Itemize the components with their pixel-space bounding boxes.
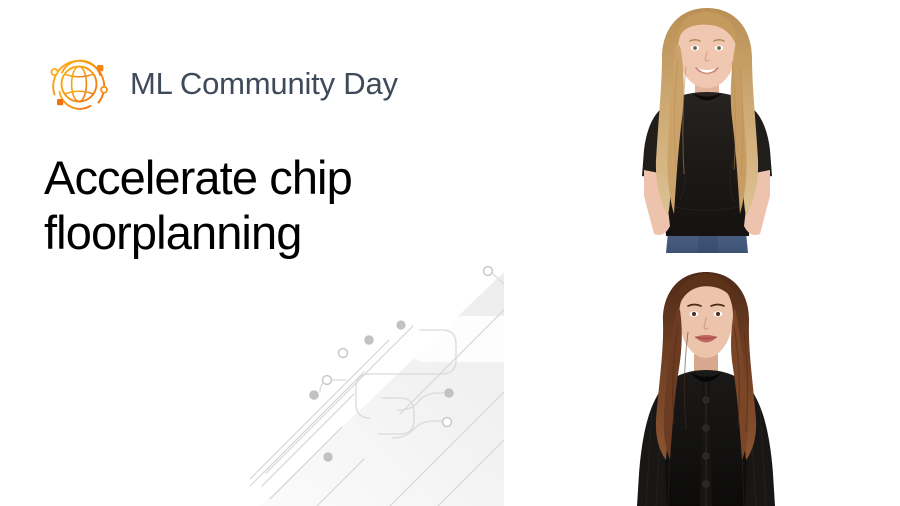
circuit-trace-artwork <box>250 252 504 506</box>
brand-title: ML Community Day <box>130 68 398 99</box>
globe-orbit-icon <box>38 44 116 122</box>
brand-lockup: ML Community Day <box>38 44 398 122</box>
speaker-photo-one: Smiling woman with long wavy blonde hair… <box>606 0 806 253</box>
slide-canvas: ML Community Day Accelerate chip floorpl… <box>0 0 900 506</box>
speaker-photo-two: Smiling woman with long brown hair weari… <box>606 258 806 506</box>
page-title-line-2: floorplanning <box>44 205 464 260</box>
page-title: Accelerate chip floorplanning <box>44 150 464 261</box>
page-title-line-1: Accelerate chip <box>44 150 464 205</box>
speaker-photo-stack: Smiling woman with long wavy blonde hair… <box>606 0 806 506</box>
